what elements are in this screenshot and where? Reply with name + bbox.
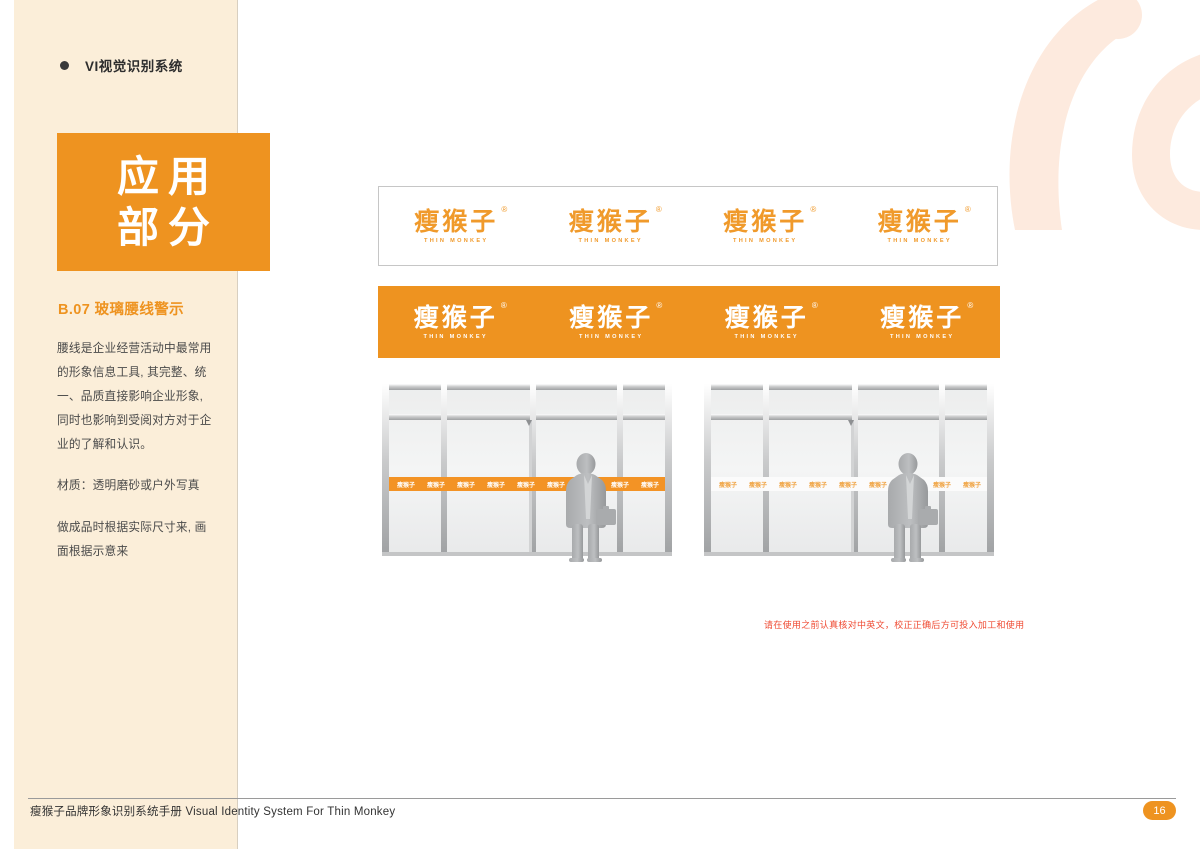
logo-lockup: 瘦猴子 ® THIN MONKEY	[414, 305, 498, 340]
svg-text:瘦猴子: 瘦猴子	[517, 481, 535, 489]
logo-chinese: 瘦猴子	[880, 305, 964, 330]
logo-chinese: 瘦猴子	[414, 209, 498, 234]
logo-lockup: 瘦猴子 ® THIN MONKEY	[880, 305, 964, 340]
logo-english: THIN MONKEY	[569, 238, 653, 244]
description-paragraph: 腰线是企业经营活动中最常用的形象信息工具, 其完整、统一、品质直接影响企业形象,…	[57, 337, 217, 457]
svg-text:瘦猴子: 瘦猴子	[547, 481, 565, 489]
proofreading-warning: 请在使用之前认真核对中英文，校正正确后方可投入加工和使用	[764, 618, 1024, 631]
logo-chinese: 瘦猴子	[878, 209, 962, 234]
logo-english: THIN MONKEY	[414, 334, 498, 340]
logo-lockup: 瘦猴子 ® THIN MONKEY	[569, 305, 653, 340]
storefront-illustrations: 瘦猴子瘦猴子 瘦猴子瘦猴子 瘦猴子瘦猴子 瘦猴子瘦猴子 瘦猴子	[378, 378, 1000, 563]
bullet-icon	[60, 61, 69, 70]
svg-text:瘦猴子: 瘦猴子	[487, 481, 505, 489]
registered-mark-icon: ®	[810, 205, 816, 214]
logo-english: THIN MONKEY	[569, 334, 653, 340]
svg-text:瘦猴子: 瘦猴子	[397, 481, 415, 489]
page-number-badge: 16	[1143, 801, 1176, 820]
storefront-orange-band: 瘦猴子瘦猴子 瘦猴子瘦猴子 瘦猴子瘦猴子 瘦猴子瘦猴子 瘦猴子	[378, 378, 676, 563]
logo-chinese: 瘦猴子	[569, 305, 653, 330]
registered-mark-icon: ®	[967, 301, 973, 310]
svg-text:瘦猴子: 瘦猴子	[963, 481, 981, 489]
svg-text:瘦猴子: 瘦猴子	[427, 481, 445, 489]
section-description: 腰线是企业经营活动中最常用的形象信息工具, 其完整、统一、品质直接影响企业形象,…	[57, 337, 217, 581]
logo-lockup: 瘦猴子 ® THIN MONKEY	[569, 209, 653, 244]
registered-mark-icon: ®	[656, 205, 662, 214]
section-title-block: 应用 部分	[57, 133, 270, 271]
sidebar-divider	[237, 0, 238, 849]
footer-title: 瘦猴子品牌形象识别系统手册 Visual Identity System For…	[30, 803, 395, 819]
registered-mark-icon: ®	[965, 205, 971, 214]
section-title-line2: 部分	[108, 202, 219, 253]
logo-chinese: 瘦猴子	[723, 209, 807, 234]
vi-manual-page: VI视觉识别系统 应用 部分 B.07 玻璃腰线警示 腰线是企业经营活动中最常用…	[0, 0, 1200, 849]
logo-lockup: 瘦猴子 ® THIN MONKEY	[723, 209, 807, 244]
logo-english: THIN MONKEY	[414, 238, 498, 244]
logo-watermark-decoration	[990, 0, 1200, 230]
footer-divider	[28, 798, 1176, 799]
logo-english: THIN MONKEY	[725, 334, 809, 340]
material-note: 材质：透明磨砂或户外写真	[57, 474, 217, 498]
registered-mark-icon: ®	[656, 301, 662, 310]
logo-lockup: 瘦猴子 ® THIN MONKEY	[878, 209, 962, 244]
waistline-band-orange: 瘦猴子 ® THIN MONKEY 瘦猴子 ® THIN MONKEY 瘦猴子 …	[378, 286, 1000, 358]
logo-english: THIN MONKEY	[880, 334, 964, 340]
production-note: 做成品时根据实际尺寸来, 画面根据示意来	[57, 516, 217, 564]
section-title-line1: 应用	[108, 151, 219, 202]
waistline-band-white: 瘦猴子 ® THIN MONKEY 瘦猴子 ® THIN MONKEY 瘦猴子 …	[378, 186, 998, 266]
svg-text:瘦猴子: 瘦猴子	[457, 481, 475, 489]
logo-chinese: 瘦猴子	[569, 209, 653, 234]
svg-text:瘦猴子: 瘦猴子	[779, 481, 797, 489]
section-heading: B.07 玻璃腰线警示	[58, 298, 184, 319]
waistline-artboards: 瘦猴子 ® THIN MONKEY 瘦猴子 ® THIN MONKEY 瘦猴子 …	[378, 186, 1000, 358]
logo-chinese: 瘦猴子	[414, 305, 498, 330]
logo-lockup: 瘦猴子 ® THIN MONKEY	[725, 305, 809, 340]
svg-text:瘦猴子: 瘦猴子	[719, 481, 737, 489]
registered-mark-icon: ®	[812, 301, 818, 310]
logo-english: THIN MONKEY	[723, 238, 807, 244]
svg-text:瘦猴子: 瘦猴子	[611, 481, 629, 489]
svg-text:瘦猴子: 瘦猴子	[749, 481, 767, 489]
page-header-title: VI视觉识别系统	[85, 55, 183, 75]
svg-text:瘦猴子: 瘦猴子	[933, 481, 951, 489]
page-header: VI视觉识别系统	[60, 55, 183, 75]
registered-mark-icon: ®	[501, 301, 507, 310]
logo-lockup: 瘦猴子 ® THIN MONKEY	[414, 209, 498, 244]
storefront-frosted-band: 瘦猴子瘦猴子 瘦猴子瘦猴子 瘦猴子瘦猴子 瘦猴子瘦猴子 瘦猴子	[700, 378, 998, 563]
svg-text:瘦猴子: 瘦猴子	[809, 481, 827, 489]
svg-text:瘦猴子: 瘦猴子	[869, 481, 887, 489]
registered-mark-icon: ®	[501, 205, 507, 214]
svg-text:瘦猴子: 瘦猴子	[641, 481, 659, 489]
logo-english: THIN MONKEY	[878, 238, 962, 244]
svg-text:瘦猴子: 瘦猴子	[839, 481, 857, 489]
logo-chinese: 瘦猴子	[725, 305, 809, 330]
